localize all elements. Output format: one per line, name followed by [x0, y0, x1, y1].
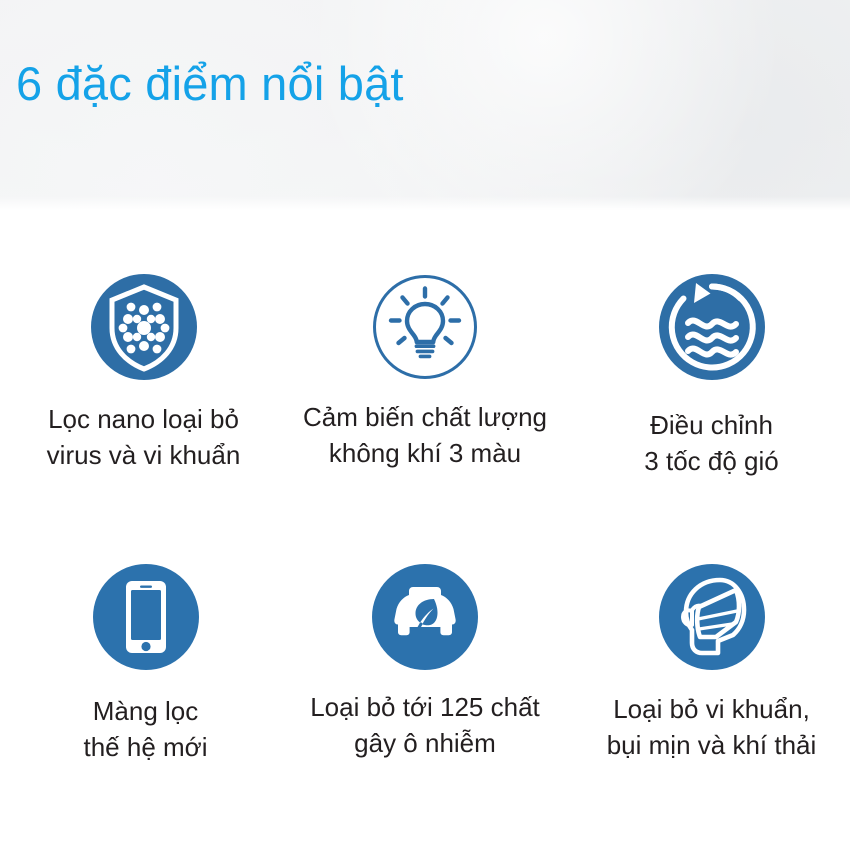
nano-shield-icon — [90, 273, 198, 381]
face-mask-icon — [658, 563, 766, 671]
feature-item-new-filter-membrane[interactable]: Màng lọc thế hệ mới — [0, 545, 283, 835]
feature-item-pollutant-removal[interactable]: Loại bỏ tới 125 chất gây ô nhiễm — [283, 545, 567, 835]
feature-label: Màng lọc thế hệ mới — [84, 693, 208, 765]
feature-item-bacteria-dust-removal[interactable]: Loại bỏ vi khuẩn, bụi mịn và khí thải — [567, 545, 850, 835]
feature-label: Điều chỉnh 3 tốc độ gió — [644, 407, 778, 479]
feature-label: Cảm biến chất lượng không khí 3 màu — [303, 399, 547, 471]
lightbulb-sensor-icon — [371, 273, 479, 381]
feature-label: Loại bỏ tới 125 chất gây ô nhiễm — [310, 689, 540, 761]
page-title: 6 đặc điểm nổi bật — [16, 55, 404, 113]
feature-label: Lọc nano loại bỏ virus và vi khuẩn — [47, 401, 241, 473]
feature-item-fan-speed[interactable]: Điều chỉnh 3 tốc độ gió — [567, 255, 850, 545]
feature-item-air-quality-sensor[interactable]: Cảm biến chất lượng không khí 3 màu — [283, 255, 567, 545]
airflow-speed-icon — [658, 273, 766, 381]
smartphone-icon — [92, 563, 200, 671]
feature-label: Loại bỏ vi khuẩn, bụi mịn và khí thải — [607, 691, 817, 763]
feature-item-nano-filter[interactable]: Lọc nano loại bỏ virus và vi khuẩn — [0, 255, 283, 545]
feature-highlights-page: 6 đặc điểm nổi bật — [0, 0, 850, 850]
feature-grid: Lọc nano loại bỏ virus và vi khuẩn — [0, 255, 850, 835]
eco-car-leaf-icon — [371, 563, 479, 671]
header-band: 6 đặc điểm nổi bật — [0, 0, 850, 210]
